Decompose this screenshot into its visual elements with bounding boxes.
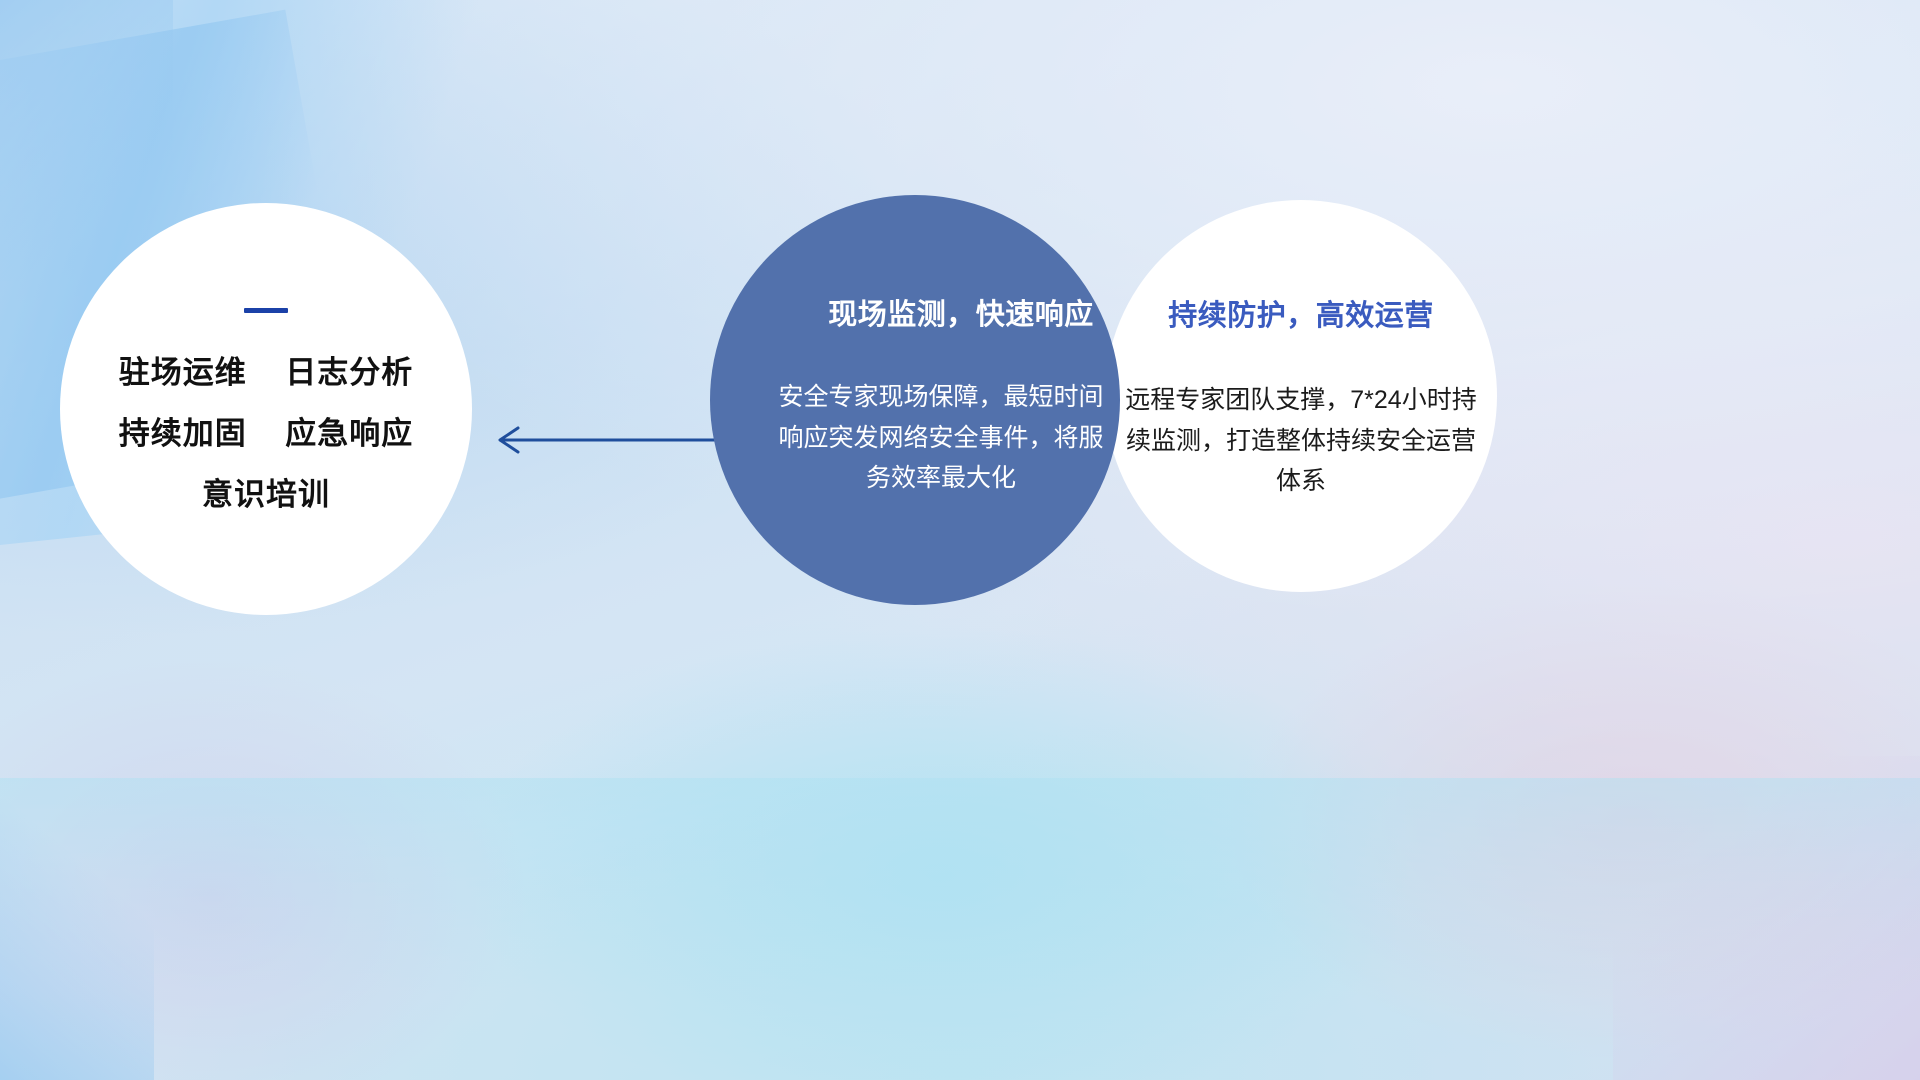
middle-card-body: 安全专家现场保障，最短时间响应突发网络安全事件，将服务效率最大化 xyxy=(776,377,1106,499)
capability-line-2: 持续加固 应急响应 xyxy=(119,418,413,449)
capability-card-left[interactable]: 驻场运维 日志分析 持续加固 应急响应 意识培训 xyxy=(60,203,472,615)
middle-card-title: 现场监测，快速响应 xyxy=(828,291,1094,333)
right-card-body: 远程专家团队支撑，7*24小时持续监测，打造整体持续安全运营体系 xyxy=(1121,380,1481,502)
service-card-middle[interactable]: 现场监测，快速响应 安全专家现场保障，最短时间响应突发网络安全事件，将服务效率最… xyxy=(710,195,1120,605)
background-corner-bottom-left xyxy=(0,799,154,1080)
connector-arrow-icon xyxy=(480,412,725,468)
slide-canvas: 驻场运维 日志分析 持续加固 应急响应 意识培训 持续防护，高效运营 远程专家团… xyxy=(0,0,1920,1080)
service-card-right[interactable]: 持续防护，高效运营 远程专家团队支撑，7*24小时持续监测，打造整体持续安全运营… xyxy=(1105,200,1497,592)
capability-line-1: 驻场运维 日志分析 xyxy=(119,357,413,388)
divider-dash xyxy=(244,308,288,313)
capability-list: 驻场运维 日志分析 持续加固 应急响应 意识培训 xyxy=(119,357,413,510)
capability-line-3: 意识培训 xyxy=(119,479,413,510)
background-corner-bottom-right xyxy=(1613,756,1920,1080)
background-corner-top-left xyxy=(0,0,173,281)
right-card-title: 持续防护，高效运营 xyxy=(1168,292,1434,334)
